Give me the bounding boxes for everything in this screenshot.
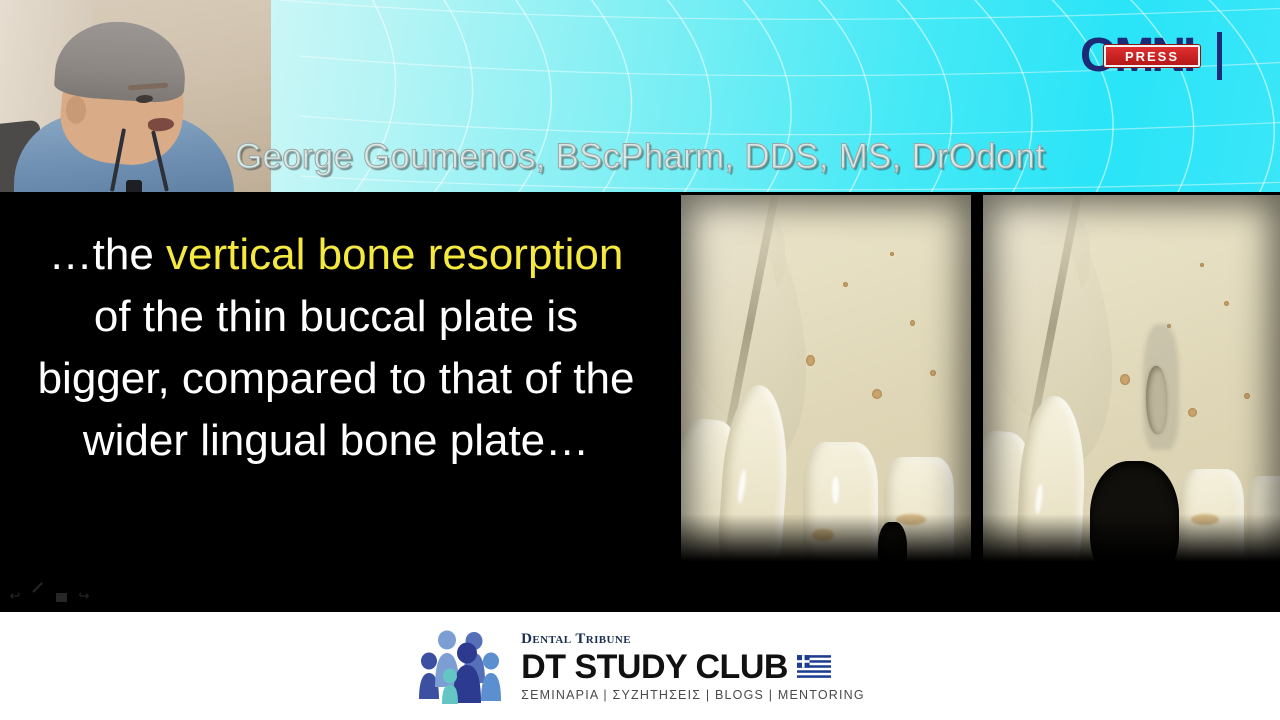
- people-group-icon: [415, 627, 507, 705]
- lapel-microphone: [126, 180, 142, 192]
- speaker-name-title: George Goumenos, BScPharm, DDS, MS, DrOd…: [0, 137, 1280, 177]
- clinical-photo-resorbed: [983, 195, 1280, 575]
- omni-press-logo: OMNI PRESS: [1080, 28, 1218, 84]
- dt-study-club-logo[interactable]: Dental Tribune DT STUDY CLUB: [415, 627, 865, 705]
- pen-tool-icon[interactable]: [32, 590, 46, 604]
- next-slide-icon[interactable]: ↪: [77, 590, 91, 604]
- presenter-controls[interactable]: ↩ ↪: [8, 590, 91, 604]
- slide-content-area: …the vertical bone resorption of the thi…: [0, 192, 1280, 612]
- dt-logo-subtitle: ΣΕΜΙΝΑΡΙΑ | ΣΥΖΗΤΗΣΕΙΣ | BLOGS | MENTORI…: [521, 688, 865, 702]
- press-badge: PRESS: [1104, 45, 1200, 67]
- slide-header-banner: George Goumenos, BScPharm, DDS, MS, DrOd…: [0, 0, 1280, 192]
- footer-bar: Dental Tribune DT STUDY CLUB: [0, 612, 1280, 720]
- bone-specimen-image: [681, 195, 971, 575]
- previous-slide-icon[interactable]: ↩: [8, 590, 22, 604]
- quote-line-1-prefix: …the: [49, 230, 166, 279]
- speaker-ear: [66, 96, 86, 124]
- dt-study-club-title: DT STUDY CLUB: [521, 649, 788, 685]
- press-badge-label: PRESS: [1125, 49, 1179, 64]
- quote-line-4: wider lingual bone plate…: [83, 416, 589, 465]
- quote-highlight: vertical bone resorption: [166, 230, 623, 279]
- clinical-photo-intact: [681, 195, 971, 575]
- dental-tribune-label: Dental Tribune: [521, 631, 865, 648]
- dt-logo-text: Dental Tribune DT STUDY CLUB: [521, 631, 865, 702]
- slide-menu-icon[interactable]: [56, 593, 67, 602]
- bone-specimen-image: [983, 195, 1280, 575]
- omni-logo-bar: [1217, 32, 1222, 80]
- slide-quote-text: …the vertical bone resorption of the thi…: [0, 224, 672, 472]
- quote-line-2: of the thin buccal plate is: [94, 292, 578, 341]
- presentation-screen: George Goumenos, BScPharm, DDS, MS, DrOd…: [0, 0, 1280, 720]
- greek-flag-icon: [797, 655, 831, 678]
- quote-line-3: bigger, compared to that of the: [38, 354, 635, 403]
